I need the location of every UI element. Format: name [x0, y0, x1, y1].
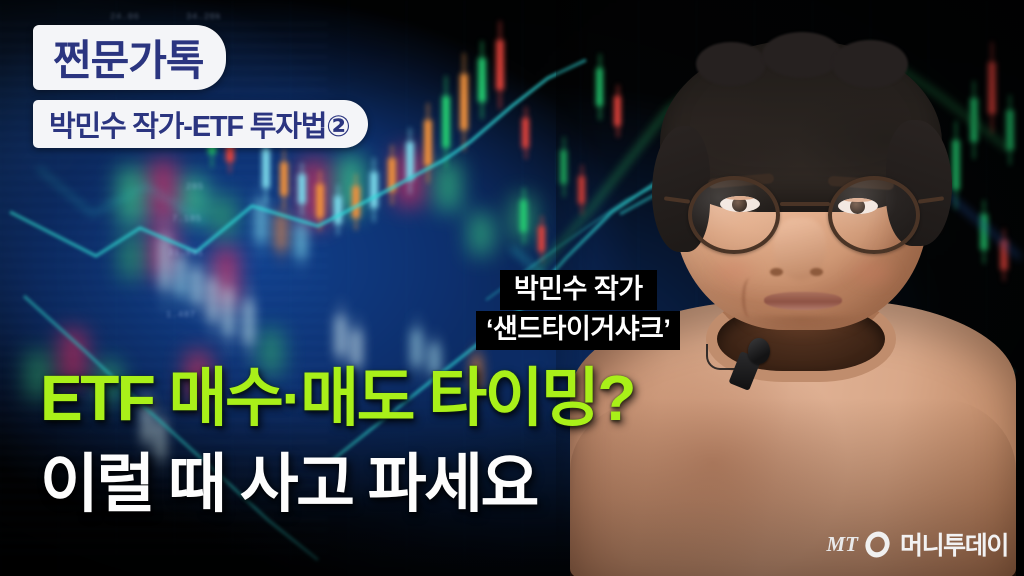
ring-oval-icon [862, 527, 892, 561]
headline-block: ETF 매수·매도 타이밍? 이럴 때 사고 파세요 [40, 366, 634, 516]
logo-wordmark: 머니투데이 [900, 526, 1008, 562]
episode-subtitle-text: 박민수 작가-ETF 투자법② [49, 103, 350, 145]
speaker-name: 박민수 작가 [500, 270, 657, 310]
headline-line-2: 이럴 때 사고 파세요 [40, 452, 634, 516]
logo-abbreviation: MT [826, 532, 858, 557]
speaker-alias: ‘샌드타이거샤크’ [476, 311, 680, 350]
episode-subtitle-badge: 박민수 작가-ETF 투자법② [33, 100, 368, 148]
thumbnail-canvas: 34.20k 285 7.185 31.991 1.487 24.06 [0, 0, 1024, 576]
program-title-text: 쩐문가톡 [53, 27, 204, 88]
speaker-name-block: 박민수 작가 ‘샌드타이거샤크’ [476, 270, 680, 350]
moneytoday-logo: MT 머니투데이 [826, 526, 1008, 562]
program-title-badge: 쩐문가톡 [33, 25, 226, 90]
headline-line-1: ETF 매수·매도 타이밍? [40, 366, 634, 430]
